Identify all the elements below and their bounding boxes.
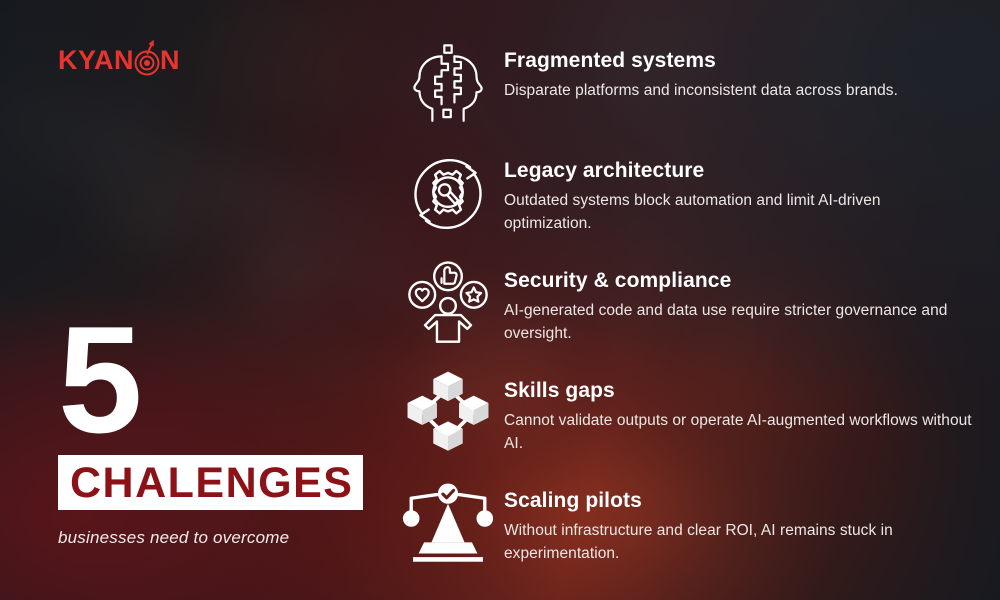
- list-item-description: Outdated systems block automation and li…: [504, 189, 972, 236]
- list-item: Scaling pilots Without infrastructure an…: [392, 476, 972, 572]
- list-item-title: Security & compliance: [504, 269, 972, 294]
- list-item-description: Without infrastructure and clear ROI, AI…: [504, 519, 972, 566]
- target-bullseye-with-arrow-icon: [134, 50, 160, 76]
- challenge-count: 5: [58, 318, 378, 443]
- list-item: Fragmented systems Disparate platforms a…: [392, 36, 972, 132]
- logo-text-right: N: [160, 45, 180, 76]
- balance-scale-check-icon: [392, 476, 504, 572]
- list-item: Legacy architecture Outdated systems blo…: [392, 146, 972, 242]
- kyanon-logo[interactable]: KYAN N: [58, 45, 180, 76]
- list-item-title: Fragmented systems: [504, 49, 972, 74]
- list-item-text: Legacy architecture Outdated systems blo…: [504, 146, 972, 236]
- list-item-text: Fragmented systems Disparate platforms a…: [504, 36, 972, 102]
- cube-network-nodes-icon: [392, 366, 504, 462]
- logo-text-left: KYAN: [58, 45, 134, 76]
- list-item-text: Scaling pilots Without infrastructure an…: [504, 476, 972, 566]
- keyword-box: CHALENGES: [58, 455, 363, 510]
- person-with-rating-badges-icon: [392, 256, 504, 352]
- challenges-list: Fragmented systems Disparate platforms a…: [392, 36, 972, 586]
- headline-subtitle: businesses need to overcome: [58, 528, 378, 548]
- list-item: Security & compliance AI-generated code …: [392, 256, 972, 352]
- list-item-text: Skills gaps Cannot validate outputs or o…: [504, 366, 972, 456]
- list-item-text: Security & compliance AI-generated code …: [504, 256, 972, 346]
- fragmented-head-puzzle-icon: [392, 36, 504, 132]
- list-item-description: AI-generated code and data use require s…: [504, 299, 972, 346]
- list-item-description: Disparate platforms and inconsistent dat…: [504, 79, 972, 103]
- infographic-canvas: KYAN N 5 CHALENGES businesses need to ov…: [0, 0, 1000, 600]
- keyword-label: CHALENGES: [70, 462, 351, 505]
- list-item-description: Cannot validate outputs or operate AI-au…: [504, 409, 972, 456]
- list-item-title: Legacy architecture: [504, 159, 972, 184]
- list-item-title: Skills gaps: [504, 379, 972, 404]
- list-item: Skills gaps Cannot validate outputs or o…: [392, 366, 972, 462]
- headline-block: 5 CHALENGES businesses need to overcome: [58, 318, 378, 548]
- list-item-title: Scaling pilots: [504, 489, 972, 514]
- gear-wrench-refresh-icon: [392, 146, 504, 242]
